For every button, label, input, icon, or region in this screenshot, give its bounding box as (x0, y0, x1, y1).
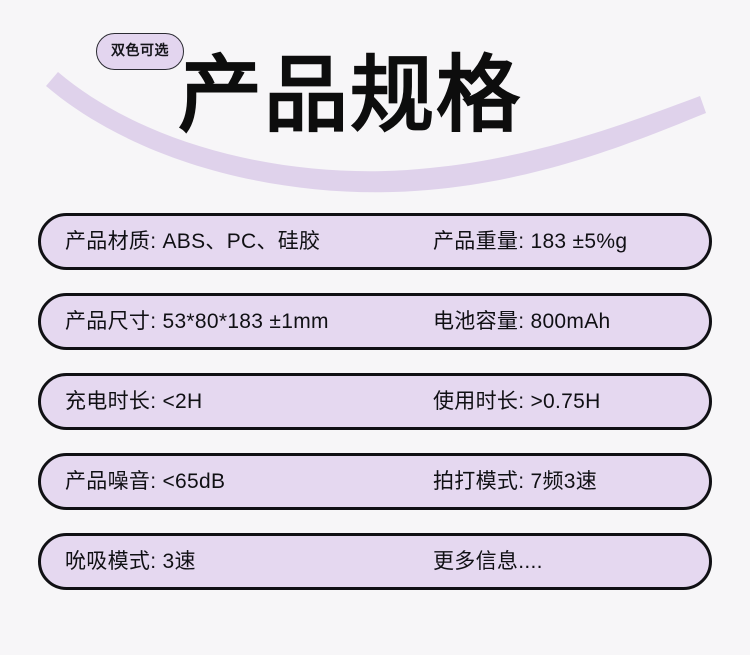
badge-two-colors: 双色可选 (96, 33, 184, 70)
page-header: 双色可选 产品规格 (0, 0, 750, 205)
spec-more-info-label: 更多信息.... (433, 536, 543, 587)
spec-suction-mode-label: 吮吸模式: 3速 (65, 536, 196, 587)
spec-usage-time-label: 使用时长: >0.75H (433, 376, 601, 427)
spec-tapping-mode-label: 拍打模式: 7频3速 (433, 456, 597, 507)
page-title: 产品规格 (178, 47, 522, 143)
spec-row: 吮吸模式: 3速 更多信息.... (38, 533, 712, 590)
spec-charging-time-label: 充电时长: <2H (65, 376, 202, 427)
spec-weight-label: 产品重量: 183 ±5%g (433, 216, 627, 267)
spec-row: 产品噪音: <65dB 拍打模式: 7频3速 (38, 453, 712, 510)
spec-material-label: 产品材质: ABS、PC、硅胶 (65, 216, 320, 267)
spec-row: 产品材质: ABS、PC、硅胶 产品重量: 183 ±5%g (38, 213, 712, 270)
spec-list: 产品材质: ABS、PC、硅胶 产品重量: 183 ±5%g 产品尺寸: 53*… (0, 213, 750, 590)
spec-dimensions-label: 产品尺寸: 53*80*183 ±1mm (65, 296, 329, 347)
badge-label: 双色可选 (96, 33, 184, 70)
spec-row: 产品尺寸: 53*80*183 ±1mm 电池容量: 800mAh (38, 293, 712, 350)
product-spec-page: 双色可选 产品规格 产品材质: ABS、PC、硅胶 产品重量: 183 ±5%g… (0, 0, 750, 655)
spec-row: 充电时长: <2H 使用时长: >0.75H (38, 373, 712, 430)
spec-battery-label: 电池容量: 800mAh (433, 296, 611, 347)
spec-noise-label: 产品噪音: <65dB (65, 456, 225, 507)
